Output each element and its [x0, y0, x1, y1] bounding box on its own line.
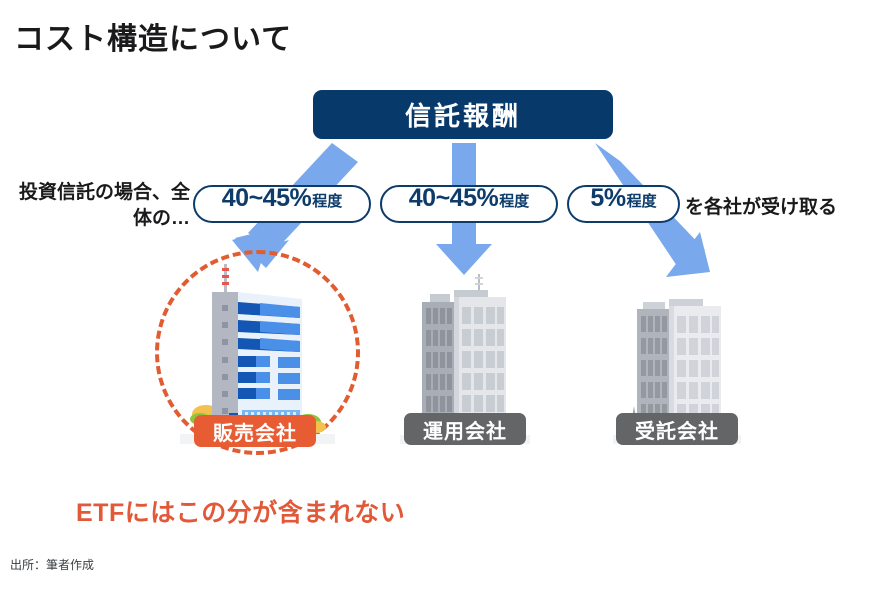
company-badge-trustee: 受託会社: [616, 413, 738, 445]
company-label: 販売会社: [213, 417, 297, 446]
percentage-suffix: 程度: [312, 194, 342, 209]
company-badge-asset-mgmt: 運用会社: [404, 413, 526, 445]
percentage-pill-trustee: 5% 程度: [567, 185, 680, 223]
note-left: 投資信託の場合、全体の…: [8, 180, 190, 231]
percentage-value: 40~45%: [222, 186, 311, 211]
note-right: を各社が受け取る: [685, 192, 837, 219]
percentage-value: 40~45%: [409, 186, 498, 211]
percentage-suffix: 程度: [627, 194, 657, 209]
company-badge-sales: 販売会社: [194, 415, 316, 447]
percentage-pill-sales: 40~45% 程度: [193, 185, 371, 223]
highlight-callout: ETFにはこの分が含まれない: [76, 493, 405, 529]
source-note: 出所：筆者作成: [10, 556, 94, 573]
trust-fee-box: 信託報酬: [313, 90, 613, 139]
trust-fee-label: 信託報酬: [405, 96, 521, 133]
company-label: 運用会社: [423, 415, 507, 444]
percentage-pill-asset-mgmt: 40~45% 程度: [380, 185, 558, 223]
percentage-value: 5%: [590, 186, 625, 211]
company-label: 受託会社: [635, 415, 719, 444]
slide-canvas: コスト構造について 信託報酬 投資信託の場合、全体の… 40~45% 程度 40…: [0, 0, 870, 589]
percentage-suffix: 程度: [499, 194, 529, 209]
